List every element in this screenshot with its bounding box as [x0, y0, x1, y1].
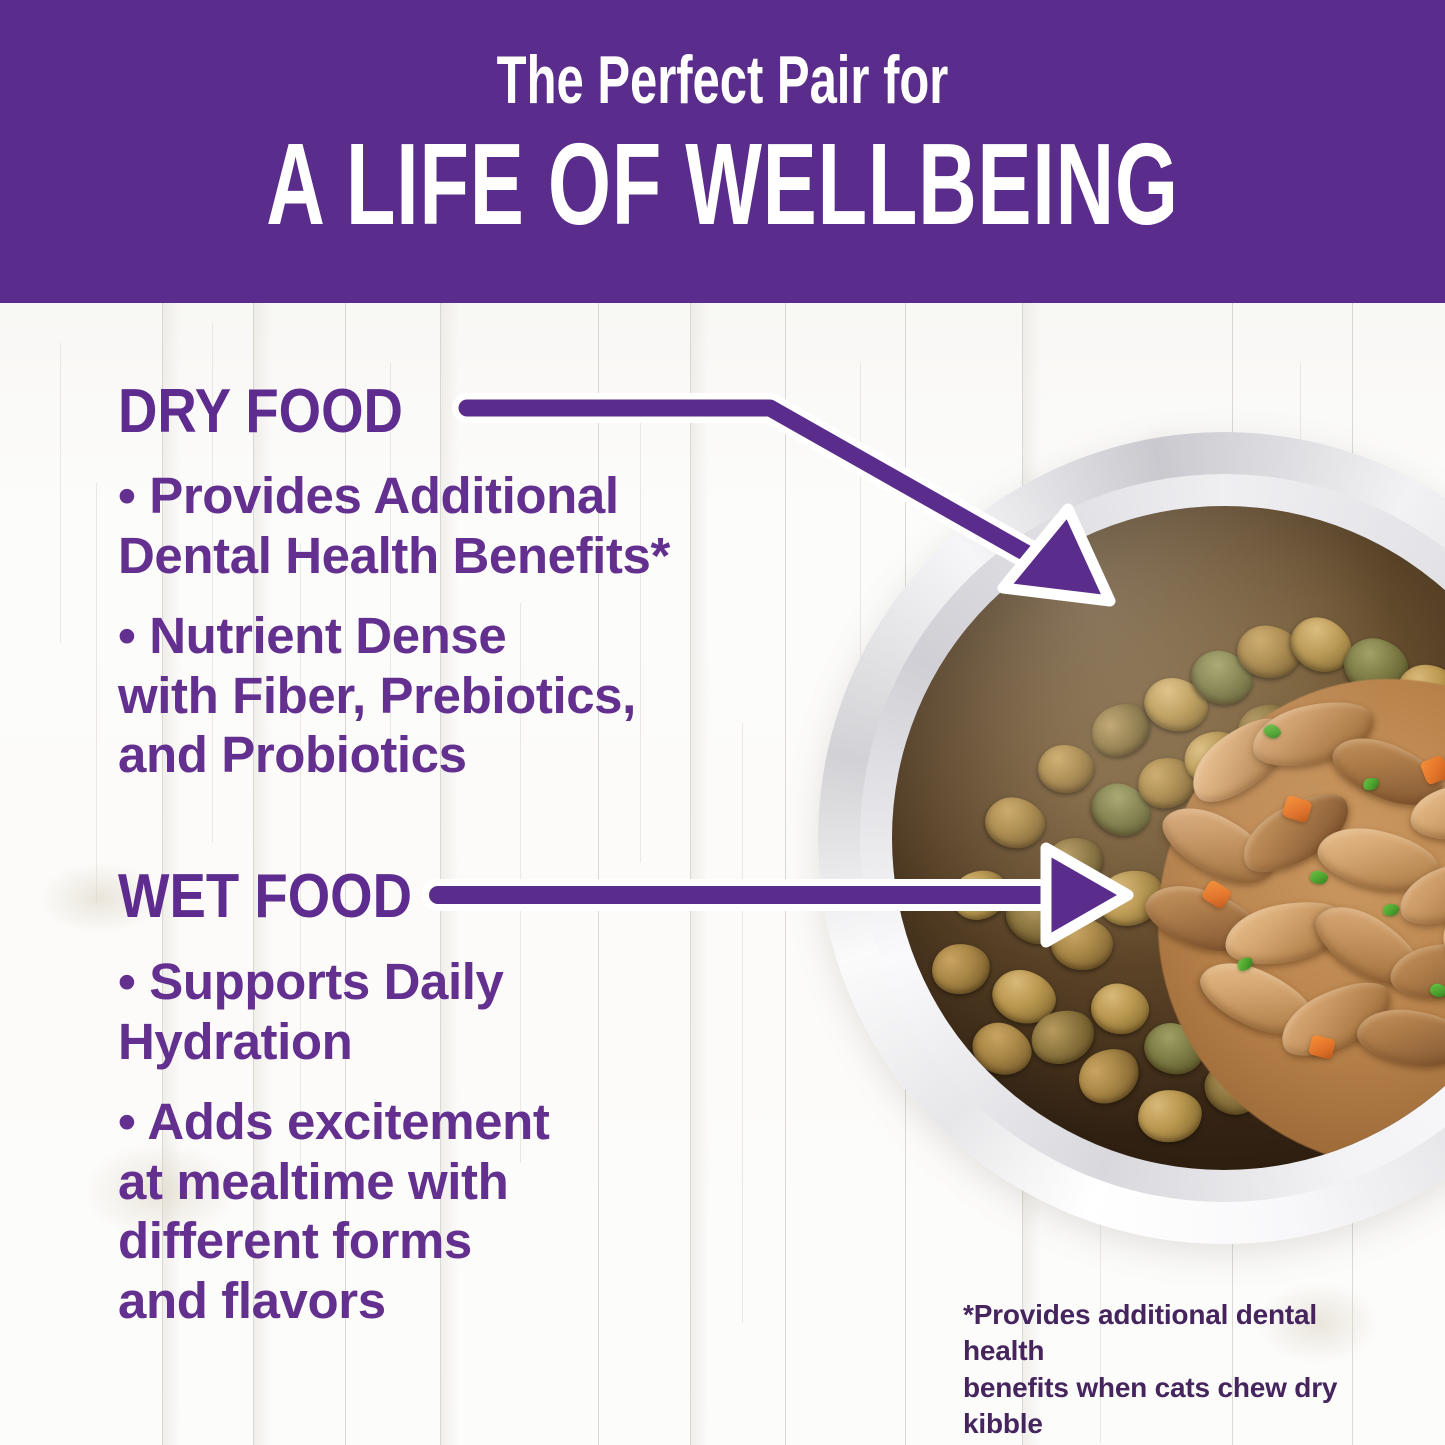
bowl-interior [892, 506, 1445, 1170]
wet-food-bullet-2: • Adds excitement at mealtime with diffe… [118, 1092, 758, 1331]
wood-grain-line [860, 363, 861, 663]
footnote-disclaimer: *Provides additional dental health benef… [963, 1297, 1393, 1443]
header-band: The Perfect Pair for A LIFE OF WELLBEING [0, 0, 1445, 303]
poster-canvas: The Perfect Pair for A LIFE OF WELLBEING [0, 0, 1445, 1445]
header-title: A LIFE OF WELLBEING [217, 126, 1229, 242]
dry-food-heading: DRY FOOD [118, 381, 403, 443]
plank-seam [785, 303, 786, 1445]
wood-grain-line [96, 483, 97, 903]
pet-food-bowl-photo [818, 432, 1445, 1244]
wet-food-heading: WET FOOD [118, 866, 412, 928]
wood-grain-line [60, 343, 61, 643]
dry-food-bullet-1: • Provides Additional Dental Health Bene… [118, 466, 758, 585]
header-eyebrow: The Perfect Pair for [202, 46, 1242, 114]
wet-food-bullet-1: • Supports Daily Hydration [118, 952, 758, 1071]
dry-food-bullet-2: • Nutrient Dense with Fiber, Prebiotics,… [118, 606, 758, 785]
